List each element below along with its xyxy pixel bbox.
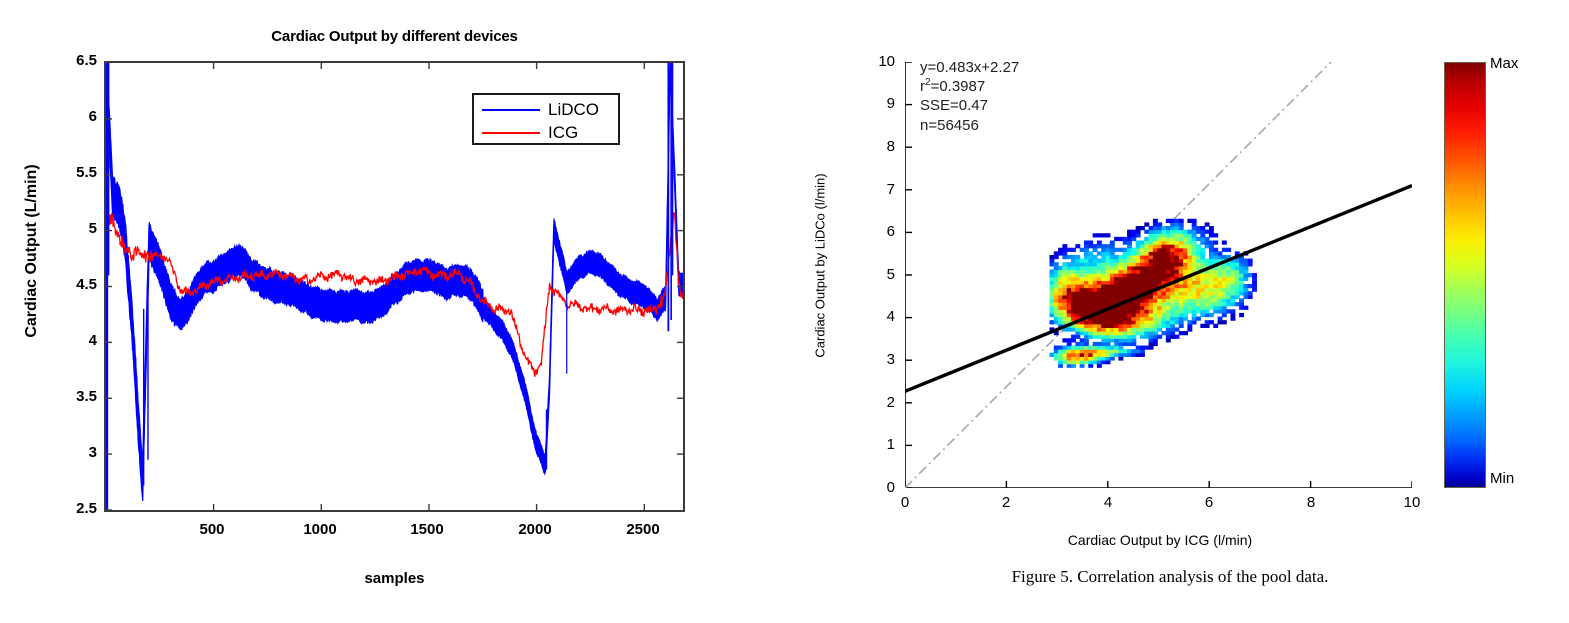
density-cell xyxy=(1093,324,1098,328)
density-cell xyxy=(1106,360,1111,364)
density-cell xyxy=(1213,302,1218,306)
density-cell xyxy=(1183,240,1188,244)
density-cell xyxy=(1088,327,1093,331)
density-cell xyxy=(1097,327,1102,331)
density-cell xyxy=(1075,327,1080,331)
density-cell xyxy=(1101,280,1106,284)
density-cell xyxy=(1144,269,1149,273)
density-cell xyxy=(1157,226,1162,230)
density-cell xyxy=(1075,306,1080,310)
density-cell xyxy=(1075,302,1080,306)
density-cell xyxy=(1153,327,1158,331)
right-ytick-10: 10 xyxy=(865,53,895,70)
density-cell xyxy=(1205,306,1210,310)
density-cell xyxy=(1054,302,1059,306)
density-cell xyxy=(1170,269,1175,273)
density-cell xyxy=(1192,306,1197,310)
density-cell xyxy=(1106,356,1111,360)
density-cell xyxy=(1088,244,1093,248)
density-heatmap-cloud xyxy=(1050,219,1257,368)
density-cell xyxy=(1136,309,1141,313)
density-cell xyxy=(1080,324,1085,328)
density-cell xyxy=(1067,356,1072,360)
density-cell xyxy=(1153,230,1158,234)
density-cell xyxy=(1088,269,1093,273)
density-cell xyxy=(1050,255,1055,259)
legend-swatch-lidco xyxy=(482,109,540,111)
density-cell xyxy=(1153,338,1158,342)
density-cell xyxy=(1166,251,1171,255)
density-cell xyxy=(1166,291,1171,295)
density-cell xyxy=(1166,273,1171,277)
density-cell xyxy=(1226,248,1231,252)
density-cell xyxy=(1114,324,1119,328)
density-cell xyxy=(1075,244,1080,248)
density-cell xyxy=(1157,320,1162,324)
density-cell xyxy=(1131,338,1136,342)
density-cell xyxy=(1144,240,1149,244)
density-cell xyxy=(1144,266,1149,270)
density-cell xyxy=(1179,230,1184,234)
density-cell xyxy=(1097,302,1102,306)
density-cell xyxy=(1062,356,1067,360)
density-cell xyxy=(1080,284,1085,288)
density-cell xyxy=(1062,298,1067,302)
density-cell xyxy=(1088,251,1093,255)
density-cell xyxy=(1054,320,1059,324)
density-cell xyxy=(1157,277,1162,281)
density-cell xyxy=(1192,251,1197,255)
density-cell xyxy=(1140,277,1145,281)
density-cell xyxy=(1230,313,1235,317)
density-cell xyxy=(1174,259,1179,263)
figure-root: Cardiac Output by different devices xyxy=(0,0,1569,623)
density-cell xyxy=(1162,240,1167,244)
density-cell xyxy=(1149,277,1154,281)
density-cell xyxy=(1127,277,1132,281)
left-ytick-4.5: 4.5 xyxy=(45,276,97,293)
density-cell xyxy=(1131,342,1136,346)
density-cell xyxy=(1054,313,1059,317)
density-cell xyxy=(1226,273,1231,277)
density-cell xyxy=(1084,353,1089,357)
legend-swatch-icg xyxy=(482,132,540,134)
density-cell xyxy=(1118,309,1123,313)
right-chart-panel: y=0.483x+2.27 r2=0.3987 SSE=0.47 n=56456… xyxy=(760,0,1569,623)
density-cell xyxy=(1140,320,1145,324)
density-cell xyxy=(1093,288,1098,292)
density-cell xyxy=(1080,262,1085,266)
density-cell xyxy=(1054,284,1059,288)
density-cell xyxy=(1127,248,1132,252)
density-cell xyxy=(1110,251,1115,255)
density-cell xyxy=(1106,302,1111,306)
density-cell xyxy=(1196,248,1201,252)
density-cell xyxy=(1131,269,1136,273)
density-cell xyxy=(1050,320,1055,324)
density-cell xyxy=(1162,291,1167,295)
density-cell xyxy=(1101,259,1106,263)
density-cell xyxy=(1118,353,1123,357)
density-cell xyxy=(1080,360,1085,364)
density-cell xyxy=(1080,273,1085,277)
density-cell xyxy=(1183,280,1188,284)
density-cell xyxy=(1183,302,1188,306)
density-cell xyxy=(1200,291,1205,295)
density-cell xyxy=(1110,295,1115,299)
density-cell xyxy=(1144,327,1149,331)
density-cell xyxy=(1062,288,1067,292)
density-cell xyxy=(1213,295,1218,299)
density-cell xyxy=(1196,280,1201,284)
density-cell xyxy=(1106,295,1111,299)
density-cell xyxy=(1080,349,1085,353)
density-cell xyxy=(1084,295,1089,299)
density-cell xyxy=(1093,269,1098,273)
density-cell xyxy=(1058,317,1063,321)
density-cell xyxy=(1209,244,1214,248)
density-cell xyxy=(1054,269,1059,273)
density-cell xyxy=(1097,317,1102,321)
density-cell xyxy=(1131,313,1136,317)
left-chart-y-axis-label: Cardiac Output (L/min) xyxy=(23,71,41,431)
density-cell xyxy=(1149,255,1154,259)
density-cell xyxy=(1157,324,1162,328)
left-chart-x-axis-label: samples xyxy=(104,570,685,587)
density-cell xyxy=(1218,284,1223,288)
left-ytick-5: 5 xyxy=(45,220,97,237)
density-cell xyxy=(1187,269,1192,273)
density-cell xyxy=(1093,320,1098,324)
density-cell xyxy=(1101,349,1106,353)
density-cell xyxy=(1162,269,1167,273)
density-cell xyxy=(1106,284,1111,288)
density-cell xyxy=(1243,273,1248,277)
density-cell xyxy=(1101,291,1106,295)
density-cell xyxy=(1239,298,1244,302)
density-cell xyxy=(1093,233,1098,237)
density-cell xyxy=(1110,324,1115,328)
density-cell xyxy=(1123,295,1128,299)
density-cell xyxy=(1136,262,1141,266)
density-cell xyxy=(1187,320,1192,324)
density-cell xyxy=(1235,262,1240,266)
density-cell xyxy=(1067,280,1072,284)
density-cell xyxy=(1192,248,1197,252)
density-cell xyxy=(1075,280,1080,284)
density-cell xyxy=(1123,353,1128,357)
density-cell xyxy=(1127,251,1132,255)
density-cell xyxy=(1170,291,1175,295)
density-cell xyxy=(1144,244,1149,248)
density-cell xyxy=(1144,284,1149,288)
density-cell xyxy=(1106,313,1111,317)
density-cell xyxy=(1075,288,1080,292)
density-cell xyxy=(1200,251,1205,255)
density-cell xyxy=(1157,248,1162,252)
density-cell xyxy=(1200,230,1205,234)
density-cell xyxy=(1162,320,1167,324)
density-cell xyxy=(1110,262,1115,266)
density-cell xyxy=(1179,291,1184,295)
density-cell xyxy=(1226,309,1231,313)
density-cell xyxy=(1118,277,1123,281)
density-cell xyxy=(1050,298,1055,302)
density-cell xyxy=(1149,251,1154,255)
density-cell xyxy=(1080,313,1085,317)
left-chart-title: Cardiac Output by different devices xyxy=(104,28,685,45)
density-cell xyxy=(1149,262,1154,266)
right-xtick-6: 6 xyxy=(1189,494,1229,511)
density-cell xyxy=(1058,309,1063,313)
density-cell xyxy=(1131,288,1136,292)
density-cell xyxy=(1162,266,1167,270)
density-cell xyxy=(1118,288,1123,292)
density-cell xyxy=(1101,269,1106,273)
density-cell xyxy=(1174,226,1179,230)
density-cell xyxy=(1131,266,1136,270)
density-cell xyxy=(1050,280,1055,284)
density-cell xyxy=(1209,313,1214,317)
density-cell xyxy=(1123,266,1128,270)
density-cell xyxy=(1080,277,1085,281)
density-cell xyxy=(1071,306,1076,310)
density-cell xyxy=(1097,291,1102,295)
density-cell xyxy=(1192,288,1197,292)
density-cell xyxy=(1058,251,1063,255)
density-cell xyxy=(1222,288,1227,292)
density-cell xyxy=(1205,240,1210,244)
density-cell xyxy=(1166,255,1171,259)
density-cell xyxy=(1183,313,1188,317)
stat-r-squared: r2=0.3987 xyxy=(920,77,1019,96)
density-cell xyxy=(1222,295,1227,299)
density-cell xyxy=(1153,240,1158,244)
density-cell xyxy=(1136,280,1141,284)
density-cell xyxy=(1106,331,1111,335)
density-cell xyxy=(1196,291,1201,295)
density-cell xyxy=(1187,284,1192,288)
density-cell xyxy=(1149,298,1154,302)
density-cell xyxy=(1114,259,1119,263)
density-cell xyxy=(1110,331,1115,335)
density-cell xyxy=(1149,331,1154,335)
density-cell xyxy=(1144,255,1149,259)
density-cell xyxy=(1131,277,1136,281)
left-ytick-6.5: 6.5 xyxy=(45,52,97,69)
density-cell xyxy=(1196,244,1201,248)
density-cell xyxy=(1239,284,1244,288)
left-xtick-2000: 2000 xyxy=(510,521,560,538)
density-cell xyxy=(1114,288,1119,292)
colorbar-jet[interactable] xyxy=(1444,62,1486,488)
density-cell xyxy=(1192,280,1197,284)
density-cell xyxy=(1062,284,1067,288)
density-cell xyxy=(1114,338,1119,342)
density-cell xyxy=(1084,277,1089,281)
density-cell xyxy=(1058,364,1063,368)
density-cell xyxy=(1058,298,1063,302)
density-cell xyxy=(1166,230,1171,234)
density-cell xyxy=(1218,269,1223,273)
right-chart-xticks xyxy=(905,481,1412,488)
density-cell xyxy=(1183,251,1188,255)
density-cell xyxy=(1062,291,1067,295)
density-cell xyxy=(1166,338,1171,342)
density-cell xyxy=(1166,298,1171,302)
density-cell xyxy=(1071,288,1076,292)
density-cell xyxy=(1097,356,1102,360)
density-cell xyxy=(1209,277,1214,281)
density-cell xyxy=(1093,273,1098,277)
density-cell xyxy=(1157,280,1162,284)
density-cell xyxy=(1097,346,1102,350)
density-cell xyxy=(1179,237,1184,241)
density-cell xyxy=(1127,327,1132,331)
density-cell xyxy=(1222,240,1227,244)
density-cell xyxy=(1118,266,1123,270)
density-cell xyxy=(1226,284,1231,288)
density-cell xyxy=(1144,309,1149,313)
density-cell xyxy=(1144,277,1149,281)
density-cell xyxy=(1222,248,1227,252)
density-cell xyxy=(1131,335,1136,339)
density-cell xyxy=(1149,226,1154,230)
density-cell xyxy=(1187,298,1192,302)
density-cell xyxy=(1067,273,1072,277)
density-cell xyxy=(1075,269,1080,273)
density-cell xyxy=(1179,259,1184,263)
density-cell xyxy=(1170,320,1175,324)
density-cell xyxy=(1071,295,1076,299)
density-cell xyxy=(1131,230,1136,234)
density-cell xyxy=(1097,295,1102,299)
density-cell xyxy=(1196,230,1201,234)
density-cell xyxy=(1140,269,1145,273)
density-cell xyxy=(1067,255,1072,259)
density-cell xyxy=(1162,306,1167,310)
density-cell xyxy=(1170,255,1175,259)
density-cell xyxy=(1118,349,1123,353)
density-cell xyxy=(1114,291,1119,295)
density-cell xyxy=(1153,237,1158,241)
density-cell xyxy=(1205,313,1210,317)
density-cell xyxy=(1071,248,1076,252)
density-cell xyxy=(1118,291,1123,295)
density-cell xyxy=(1157,317,1162,321)
density-cell xyxy=(1162,317,1167,321)
density-cell xyxy=(1153,255,1158,259)
density-cell xyxy=(1054,251,1059,255)
density-cell xyxy=(1196,237,1201,241)
density-cell xyxy=(1114,273,1119,277)
legend-row-icg[interactable]: ICG xyxy=(474,121,618,145)
density-cell xyxy=(1084,331,1089,335)
density-cell xyxy=(1174,335,1179,339)
density-cell xyxy=(1140,248,1145,252)
density-cell xyxy=(1097,273,1102,277)
density-cell xyxy=(1192,262,1197,266)
density-cell xyxy=(1075,255,1080,259)
density-cell xyxy=(1084,284,1089,288)
density-cell xyxy=(1209,306,1214,310)
density-cell xyxy=(1149,240,1154,244)
density-cell xyxy=(1187,324,1192,328)
density-cell xyxy=(1127,320,1132,324)
density-cell xyxy=(1209,259,1214,263)
density-cell xyxy=(1218,251,1223,255)
density-cell xyxy=(1149,302,1154,306)
density-cell xyxy=(1054,288,1059,292)
density-cell xyxy=(1080,364,1085,368)
density-cell xyxy=(1110,356,1115,360)
density-cell xyxy=(1205,284,1210,288)
density-cell xyxy=(1071,273,1076,277)
density-cell xyxy=(1166,324,1171,328)
left-chart-legend[interactable]: LiDCO ICG xyxy=(472,93,620,145)
density-cell xyxy=(1093,342,1098,346)
density-cell xyxy=(1118,324,1123,328)
density-cell xyxy=(1071,335,1076,339)
density-cell xyxy=(1196,317,1201,321)
density-cell xyxy=(1088,277,1093,281)
density-cell xyxy=(1123,288,1128,292)
density-cell xyxy=(1062,262,1067,266)
density-cell xyxy=(1097,353,1102,357)
density-cell xyxy=(1149,306,1154,310)
density-cell xyxy=(1084,320,1089,324)
density-cell xyxy=(1200,284,1205,288)
density-cell xyxy=(1192,277,1197,281)
density-cell xyxy=(1166,302,1171,306)
left-xtick-2500: 2500 xyxy=(618,521,668,538)
density-cell xyxy=(1088,302,1093,306)
density-cell xyxy=(1075,273,1080,277)
density-cell xyxy=(1127,317,1132,321)
density-cell xyxy=(1192,295,1197,299)
legend-row-lidco[interactable]: LiDCO xyxy=(474,98,618,122)
density-cell xyxy=(1075,335,1080,339)
density-cell xyxy=(1067,346,1072,350)
density-cell xyxy=(1062,346,1067,350)
density-cell xyxy=(1080,306,1085,310)
density-cell xyxy=(1192,259,1197,263)
density-cell xyxy=(1058,313,1063,317)
density-cell xyxy=(1174,266,1179,270)
density-cell xyxy=(1213,251,1218,255)
density-cell xyxy=(1170,288,1175,292)
density-cell xyxy=(1149,320,1154,324)
density-cell xyxy=(1127,284,1132,288)
density-cell xyxy=(1218,317,1223,321)
density-cell xyxy=(1127,237,1132,241)
density-cell xyxy=(1183,291,1188,295)
density-cell xyxy=(1058,266,1063,270)
density-cell xyxy=(1127,291,1132,295)
density-cell xyxy=(1118,320,1123,324)
density-cell xyxy=(1114,248,1119,252)
density-cell xyxy=(1114,331,1119,335)
density-cell xyxy=(1166,295,1171,299)
density-cell xyxy=(1140,226,1145,230)
density-cell xyxy=(1179,248,1184,252)
density-cell xyxy=(1101,302,1106,306)
density-cell xyxy=(1157,309,1162,313)
density-cell xyxy=(1192,244,1197,248)
density-cell xyxy=(1088,320,1093,324)
density-cell xyxy=(1162,255,1167,259)
density-cell xyxy=(1127,313,1132,317)
